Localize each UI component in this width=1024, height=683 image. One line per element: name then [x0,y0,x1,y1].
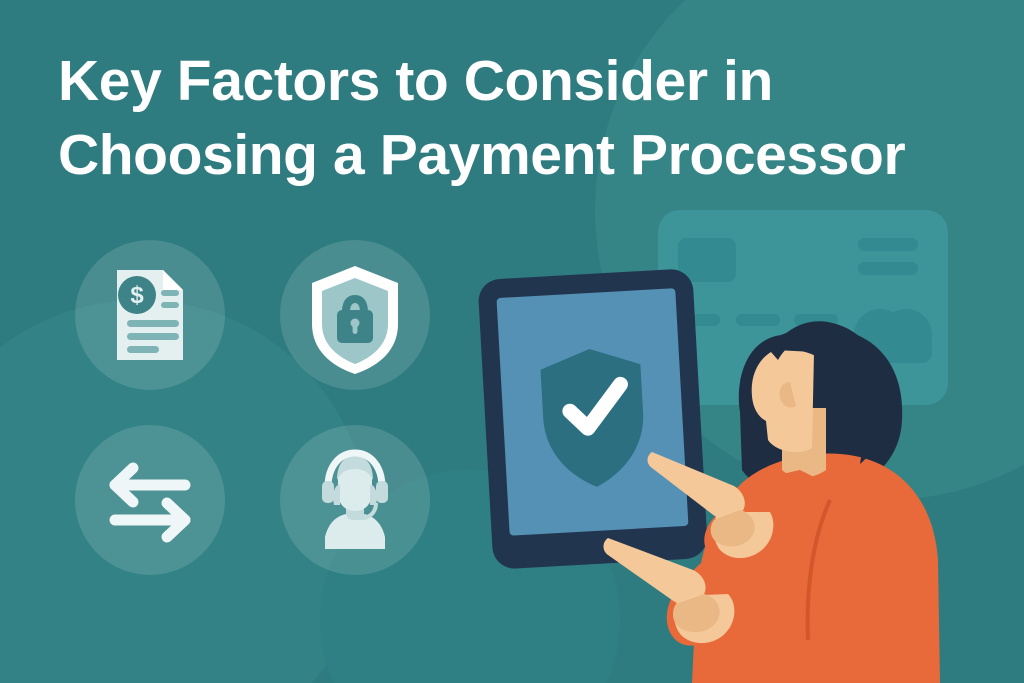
invoice-dollar-icon: $ [75,240,225,390]
headset-earpiece-right [376,481,388,503]
icon-badge-shield-lock[interactable] [280,240,430,390]
tablet-device [477,268,708,570]
headset-mic [352,513,365,520]
icon-badge-invoice-dollar[interactable]: $ [75,240,225,390]
svg-text:$: $ [130,282,144,309]
credit-card-chip [678,238,736,282]
transfer-arrows-icon [75,425,225,575]
shield-lock-icon [280,240,430,390]
icon-badge-transfer-arrows[interactable] [75,425,225,575]
credit-card-line-1 [858,238,918,251]
infographic-banner: Key Factors to Consider in Choosing a Pa… [0,0,1024,683]
support-headset-icon [280,425,430,575]
icon-badge-support-headset[interactable] [280,425,430,575]
credit-card-line-2 [858,262,918,275]
page-title: Key Factors to Consider in Choosing a Pa… [58,44,988,192]
headset-earpiece-left [322,481,334,503]
